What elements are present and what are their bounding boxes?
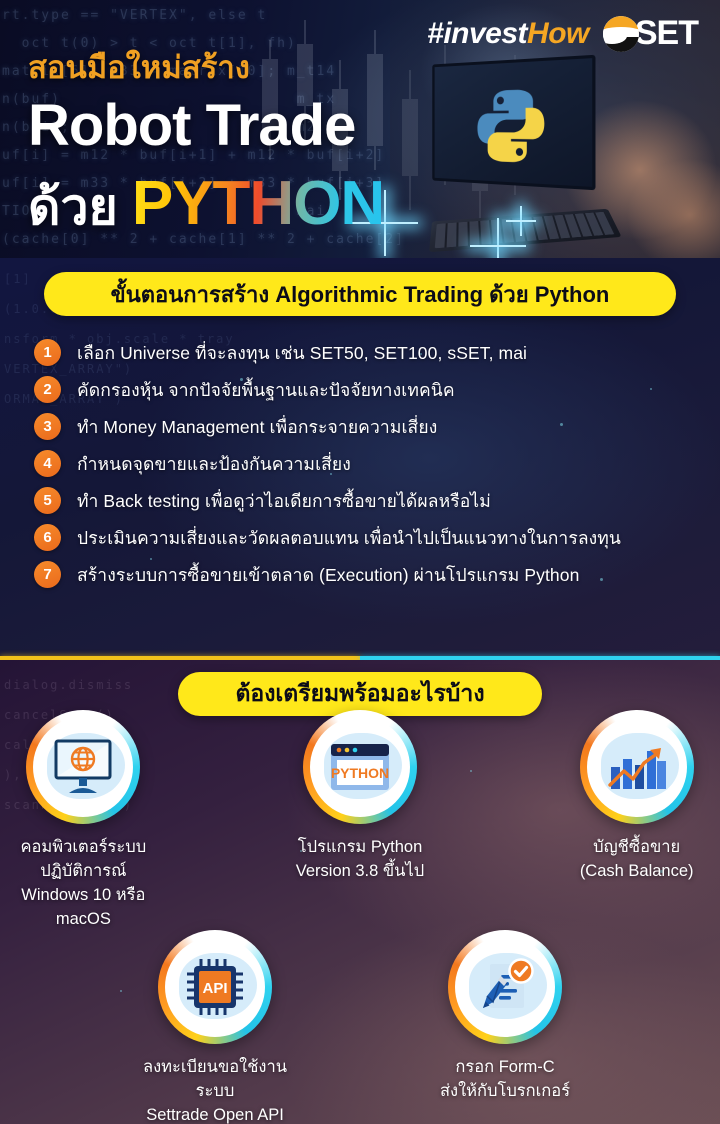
step-number-badge: 7 (34, 561, 61, 588)
requirement-caption-line1: คอมพิวเตอร์ระบบปฏิบัติการณ์ (0, 836, 167, 884)
bar-chart-growth-icon (606, 741, 668, 793)
monitor-with-python-logo (432, 55, 595, 191)
icon-ring (580, 710, 694, 824)
requirement-card: บัญชีซื้อขาย (Cash Balance) (553, 710, 720, 932)
requirement-caption-line2: ส่งให้กับโบรกเกอร์ (440, 1080, 570, 1104)
step-text: ประเมินความเสี่ยงและวัดผลตอบแทน เพื่อนำไ… (77, 524, 621, 552)
requirements-row-two: API ลงทะเบียนขอใช้งานระบบ Settrade Open … (0, 930, 720, 1124)
steps-banner-label: ขั้นตอนการสร้าง Algorithmic Trading ด้วย… (111, 277, 610, 312)
requirements-section: dialog.dismiss cancelScan() callScan() )… (0, 660, 720, 1124)
icon-inner (455, 937, 555, 1037)
step-text: กำหนดจุดขายและป้องกันความเสี่ยง (77, 450, 351, 478)
api-chip-icon: API (185, 957, 245, 1017)
monitor-globe-icon (52, 739, 114, 795)
step-number-badge: 6 (34, 524, 61, 551)
steps-banner: ขั้นตอนการสร้าง Algorithmic Trading ด้วย… (44, 272, 676, 316)
brand-how-text: How (527, 17, 589, 50)
step-number-badge: 5 (34, 487, 61, 514)
hero-title-python: PYTHON (132, 168, 384, 239)
set-logo: SET (603, 14, 698, 53)
steps-section: [1] cache[2]) (1.0.0000) "s" } (1 ) nsfo… (0, 258, 720, 660)
hero-title-main: Robot Trade (28, 92, 355, 159)
brand-lockup: #investHow SET (427, 14, 698, 53)
browser-window-python-icon: PYTHON (328, 741, 392, 793)
icon-inner (33, 717, 133, 817)
step-row: 7 สร้างระบบการซื้อขายเข้าตลาด (Execution… (34, 556, 694, 593)
step-text: เลือก Universe ที่จะลงทุน เช่น SET50, SE… (77, 339, 527, 367)
requirements-row-one: คอมพิวเตอร์ระบบปฏิบัติการณ์ Windows 10 ห… (0, 710, 720, 932)
requirement-caption: คอมพิวเตอร์ระบบปฏิบัติการณ์ Windows 10 ห… (0, 836, 167, 932)
step-number-badge: 2 (34, 376, 61, 403)
requirement-caption-line2: Version 3.8 ขึ้นไป (296, 860, 424, 884)
icon-inner: API (165, 937, 265, 1037)
requirements-banner-label: ต้องเตรียมพร้อมอะไรบ้าง (235, 676, 484, 712)
python-logo-icon (473, 83, 549, 168)
step-number-badge: 3 (34, 413, 61, 440)
requirement-caption-line2: Windows 10 หรือ macOS (0, 884, 167, 932)
step-row: 6 ประเมินความเสี่ยงและวัดผลตอบแทน เพื่อน… (34, 519, 694, 556)
step-row: 2 คัดกรองหุ้น จากปัจจัยพื้นฐานและปัจจัยท… (34, 371, 694, 408)
icon-ring (448, 930, 562, 1044)
requirement-caption-line1: โปรแกรม Python (296, 836, 424, 860)
step-number-badge: 4 (34, 450, 61, 477)
step-text: คัดกรองหุ้น จากปัจจัยพื้นฐานและปัจจัยทาง… (77, 376, 455, 404)
step-row: 4 กำหนดจุดขายและป้องกันความเสี่ยง (34, 445, 694, 482)
requirement-card: คอมพิวเตอร์ระบบปฏิบัติการณ์ Windows 10 ห… (0, 710, 167, 932)
icon-ring: API (158, 930, 272, 1044)
step-row: 3 ทำ Money Management เพื่อกระจายความเสี… (34, 408, 694, 445)
step-text: ทำ Money Management เพื่อกระจายความเสี่ย… (77, 413, 437, 441)
requirement-card: PYTHON โปรแกรม Python Version 3.8 ขึ้นไป (277, 710, 444, 932)
requirement-card: กรอก Form-C ส่งให้กับโบรกเกอร์ (415, 930, 595, 1124)
requirement-caption: กรอก Form-C ส่งให้กับโบรกเกอร์ (440, 1056, 570, 1104)
hero-section: rt.type == "VERTEX", else t oct t(0) > t… (0, 0, 720, 258)
hero-title-thai-duay: ด้วย (28, 168, 118, 247)
step-row: 1 เลือก Universe ที่จะลงทุน เช่น SET50, … (34, 334, 694, 371)
set-sun-wave-icon (603, 16, 639, 52)
hero-title-row-three: ด้วย PYTHON (28, 168, 384, 247)
requirement-caption-line2: (Cash Balance) (580, 860, 694, 884)
form-document-check-icon (474, 958, 536, 1016)
steps-list: 1 เลือก Universe ที่จะลงทุน เช่น SET50, … (34, 334, 694, 593)
requirement-caption-line2: Settrade Open API (125, 1104, 305, 1124)
requirement-caption: โปรแกรม Python Version 3.8 ขึ้นไป (296, 836, 424, 884)
browser-python-label: PYTHON (331, 765, 389, 781)
requirement-caption: ลงทะเบียนขอใช้งานระบบ Settrade Open API (125, 1056, 305, 1124)
requirement-caption-line1: บัญชีซื้อขาย (580, 836, 694, 860)
hero-subtitle-thai: สอนมือใหม่สร้าง (28, 42, 250, 92)
requirement-caption: บัญชีซื้อขาย (Cash Balance) (580, 836, 694, 884)
requirement-caption-line1: ลงทะเบียนขอใช้งานระบบ (125, 1056, 305, 1104)
step-text: สร้างระบบการซื้อขายเข้าตลาด (Execution) … (77, 561, 579, 589)
icon-inner: PYTHON (310, 717, 410, 817)
icon-ring: PYTHON (303, 710, 417, 824)
brand-invest-text: #invest (427, 17, 527, 50)
investhow-logo: #investHow (427, 17, 589, 51)
step-row: 5 ทำ Back testing เพื่อดูว่าไอเดียการซื้… (34, 482, 694, 519)
infographic-page: rt.type == "VERTEX", else t oct t(0) > t… (0, 0, 720, 1124)
set-wordmark: SET (635, 14, 698, 53)
step-number-badge: 1 (34, 339, 61, 366)
keyboard-decoration (429, 209, 622, 252)
requirement-caption-line1: กรอก Form-C (440, 1056, 570, 1080)
requirement-card: API ลงทะเบียนขอใช้งานระบบ Settrade Open … (125, 930, 305, 1124)
icon-ring (26, 710, 140, 824)
icon-inner (587, 717, 687, 817)
api-chip-label: API (202, 980, 227, 997)
step-text: ทำ Back testing เพื่อดูว่าไอเดียการซื้อข… (77, 487, 491, 515)
